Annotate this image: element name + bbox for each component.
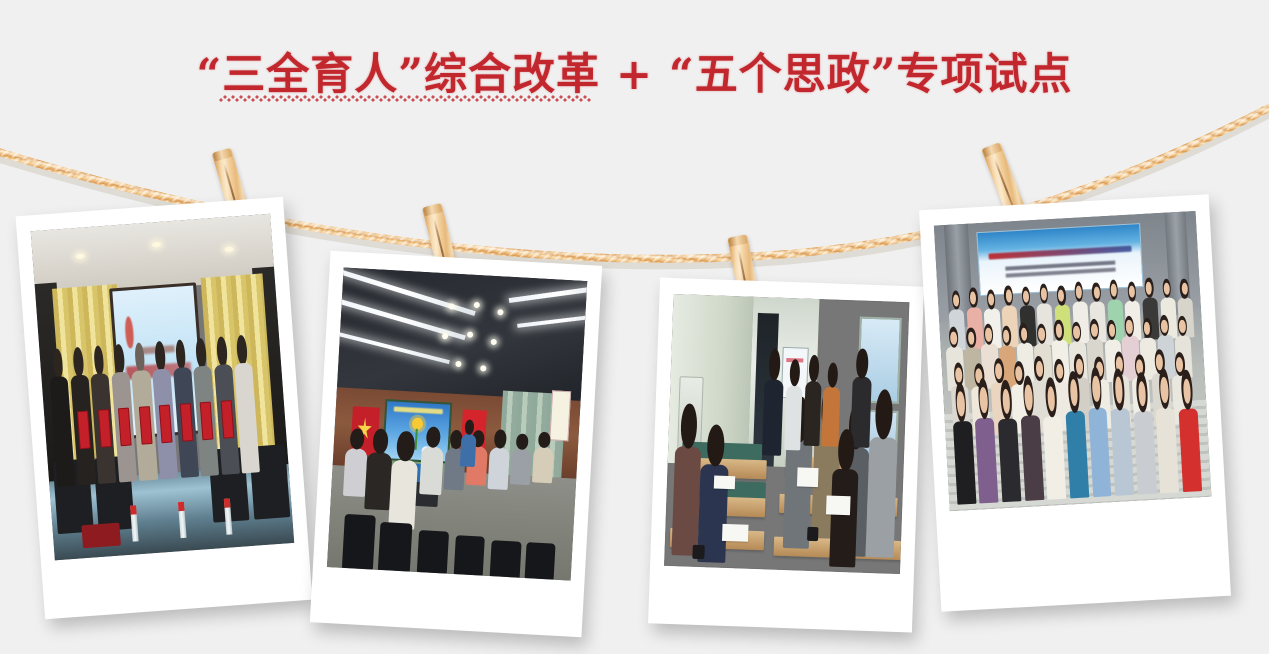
slide-canvas: “三全育人”综合改革 + “五个思政”专项试点 — [0, 0, 1269, 654]
photo-card-1[interactable] — [16, 197, 313, 620]
photo-seminar-classroom — [664, 294, 909, 574]
photo-card-3[interactable] — [648, 277, 924, 632]
photo-card-2[interactable] — [310, 251, 602, 638]
photo-card-4[interactable] — [919, 194, 1231, 612]
photo-lecture-hall — [327, 267, 587, 580]
photo-award-ceremony — [31, 214, 295, 561]
photo-group-photo — [934, 211, 1212, 511]
